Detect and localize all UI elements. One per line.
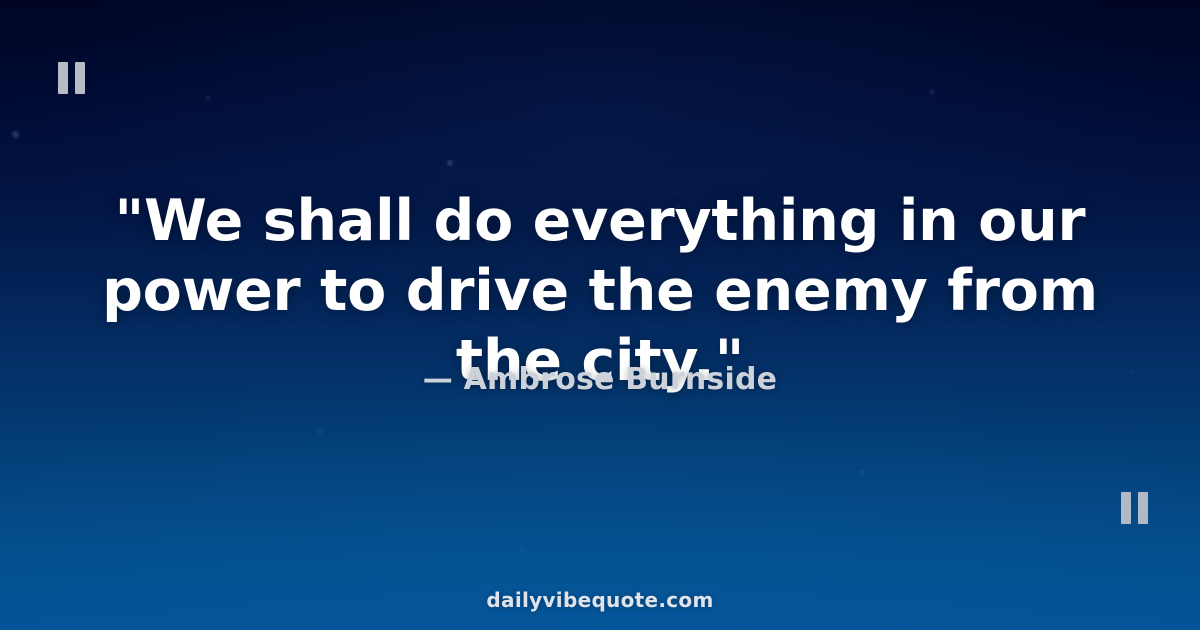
quote-attribution: — Ambrose Burnside [0,362,1200,397]
card-content: "We shall do everything in our power to … [0,0,1200,630]
quote-card: "We shall do everything in our power to … [0,0,1200,630]
site-watermark: dailyvibequote.com [0,588,1200,612]
